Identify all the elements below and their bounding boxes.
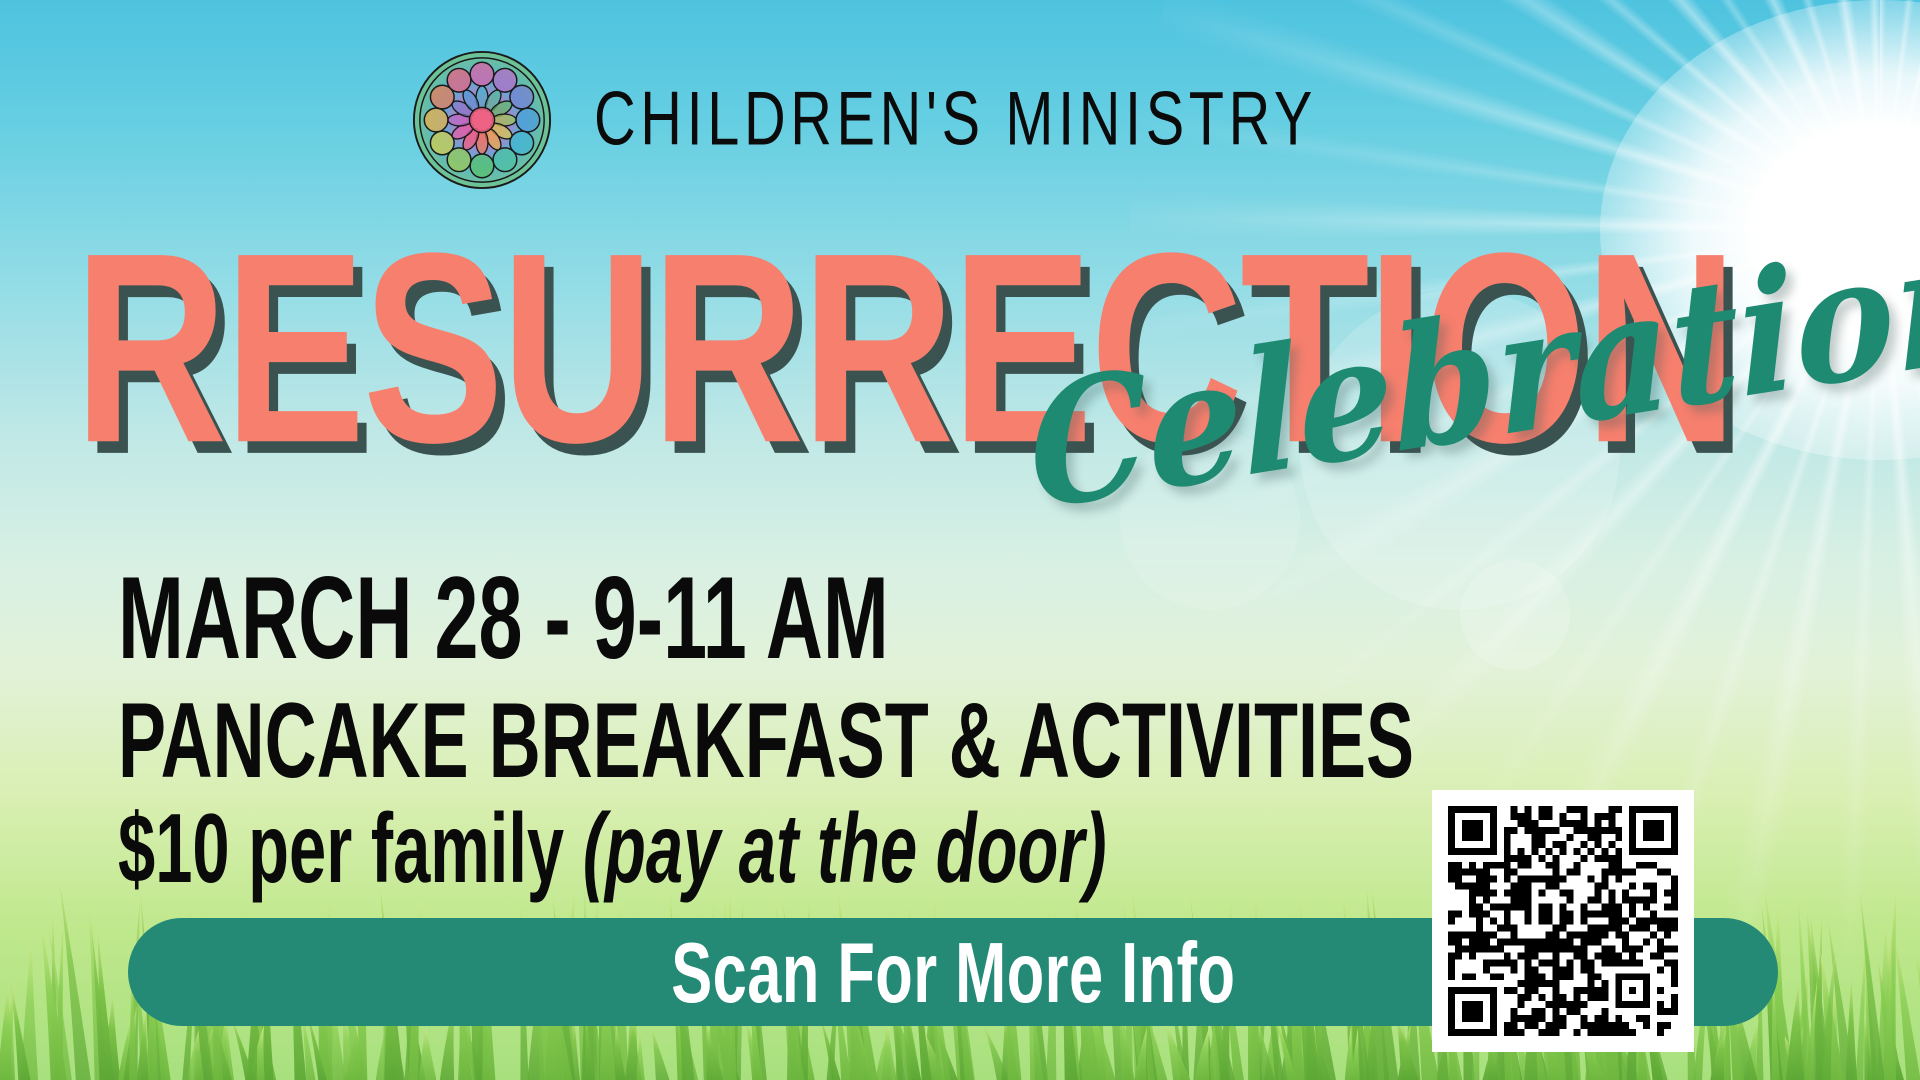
price-amount: $10 per family bbox=[118, 794, 583, 905]
price-note: (pay at the door) bbox=[583, 794, 1107, 905]
flyer-canvas: CHILDREN'S MINISTRY RESURRECTION Celebra… bbox=[0, 0, 1920, 1080]
qr-code-icon[interactable] bbox=[1432, 790, 1694, 1052]
cta-button-label: Scan For More Info bbox=[671, 929, 1235, 1015]
brand-header: CHILDREN'S MINISTRY bbox=[408, 46, 1371, 194]
qr-code-matrix bbox=[1448, 806, 1678, 1036]
event-description: PANCAKE BREAKFAST & ACTIVITIES bbox=[118, 688, 1414, 794]
lens-halo-icon bbox=[1460, 560, 1570, 670]
organization-name: CHILDREN'S MINISTRY bbox=[594, 82, 1317, 158]
rainbow-rosette-logo-icon bbox=[408, 46, 556, 194]
event-price: $10 per family (pay at the door) bbox=[118, 800, 1107, 899]
event-date-time: MARCH 28 - 9-11 AM bbox=[118, 560, 889, 677]
